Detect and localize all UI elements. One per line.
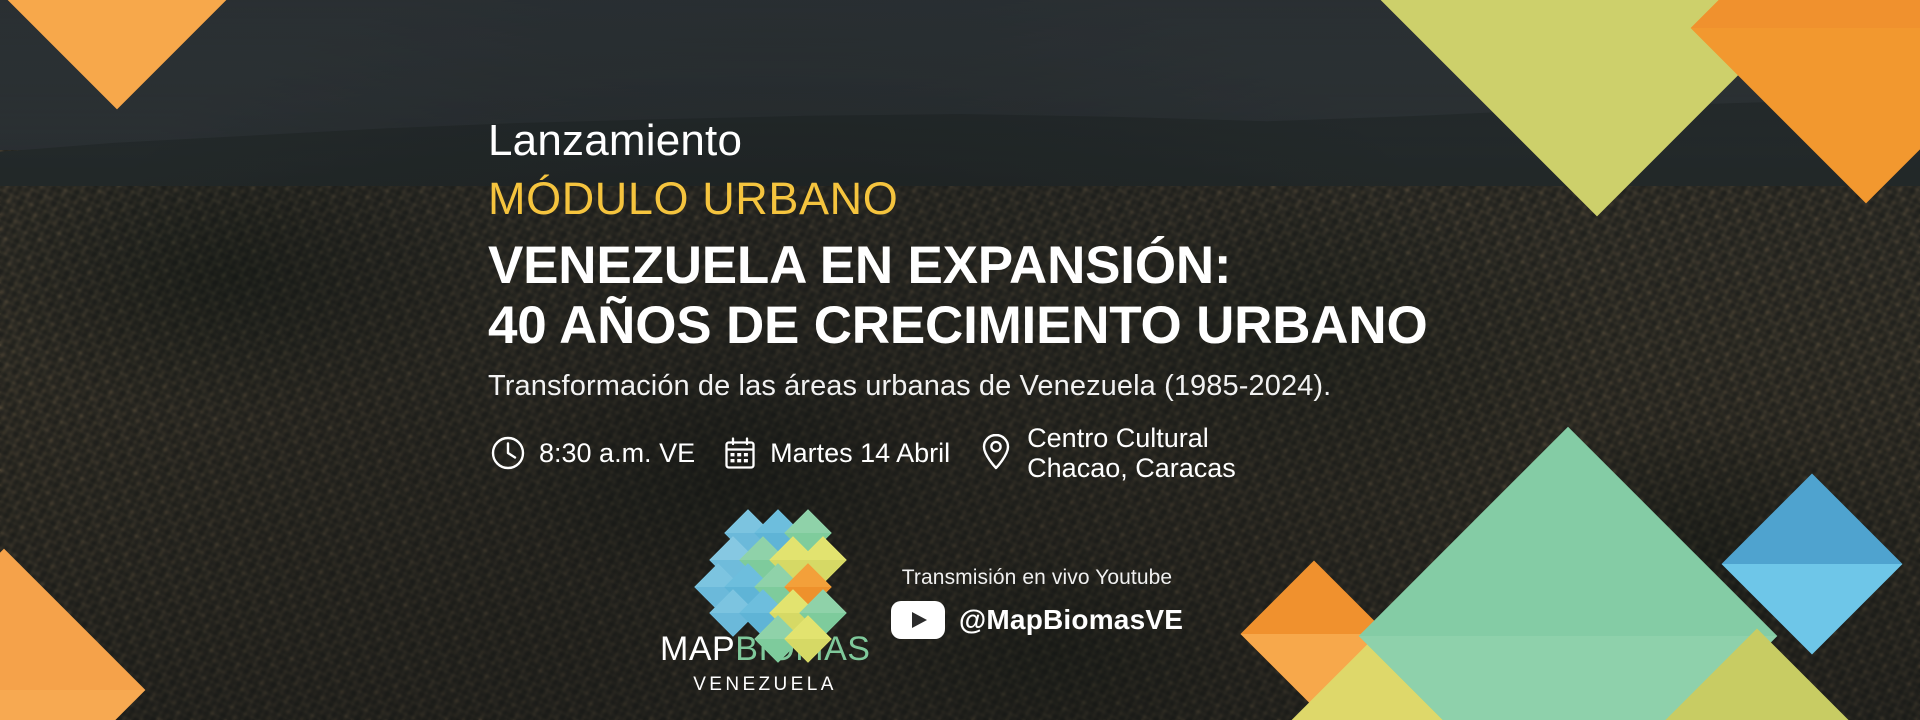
mapbiomas-logo-mark [701,518,829,626]
youtube-live-label: Transmisión en vivo Youtube [872,566,1202,590]
wordmark-map: MAP [660,630,735,668]
youtube-icon[interactable] [891,601,945,639]
youtube-live-block: Transmisión en vivo Youtube @MapBiomasVE [872,566,1202,639]
location-pin-icon [976,430,1016,476]
module-name-text: MÓDULO URBANO [488,175,1488,222]
clock-icon [488,433,528,473]
event-time-label: 8:30 a.m. VE [539,438,695,469]
youtube-handle-row[interactable]: @MapBiomasVE [872,601,1202,639]
youtube-handle[interactable]: @MapBiomasVE [959,604,1183,636]
event-promo-banner: Lanzamiento MÓDULO URBANO VENEZUELA EN E… [0,0,1920,720]
event-details-row: 8:30 a.m. VE [488,423,1488,484]
event-date-item: Martes 14 Abril [721,434,950,472]
event-title: VENEZUELA EN EXPANSIÓN: 40 AÑOS DE CRECI… [488,236,1488,356]
event-time-item: 8:30 a.m. VE [488,433,695,473]
event-date-label: Martes 14 Abril [770,438,950,469]
event-title-line-1: VENEZUELA EN EXPANSIÓN: [488,236,1488,296]
event-subtitle: Transformación de las áreas urbanas de V… [488,369,1488,404]
headline-block: Lanzamiento MÓDULO URBANO VENEZUELA EN E… [488,118,1488,484]
event-title-line-2: 40 AÑOS DE CRECIMIENTO URBANO [488,296,1488,356]
logo-country-label: VENEZUELA [660,674,870,696]
event-venue-label: Centro Cultural Chacao, Caracas [1027,423,1236,484]
mapbiomas-logo: MAPBIOMAS VENEZUELA [660,518,870,696]
event-venue-item: Centro Cultural Chacao, Caracas [976,423,1236,484]
calendar-icon [721,434,759,472]
kicker-text: Lanzamiento [488,118,1488,164]
